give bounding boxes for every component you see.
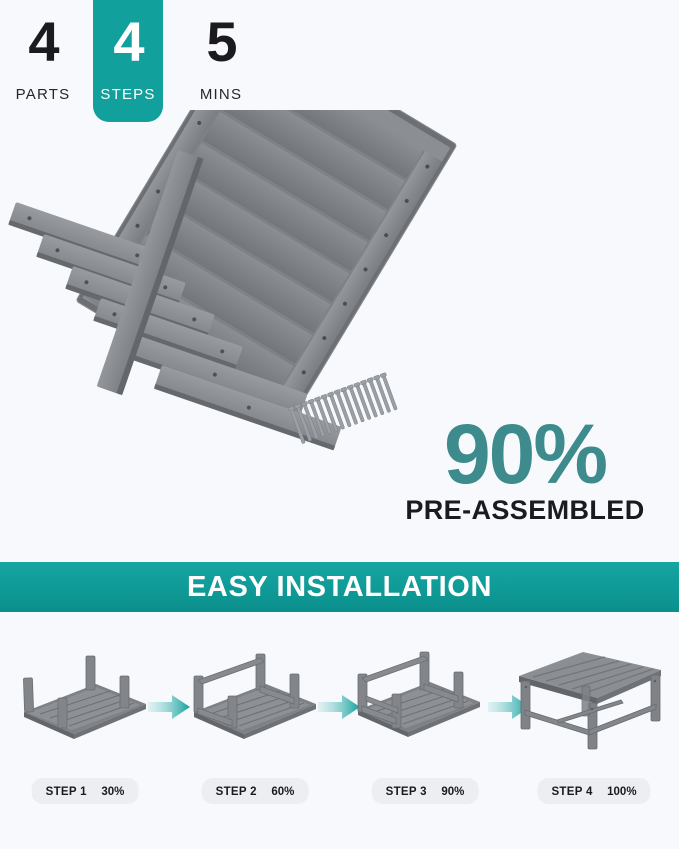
stat-steps: 4 STEPS [93, 0, 163, 122]
pre-assembled-percent: 90% [391, 416, 659, 493]
step-4-percent: 100% [607, 786, 636, 798]
step-1-percent: 30% [101, 786, 124, 798]
stat-steps-label: STEPS [100, 86, 155, 103]
step-4: STEP 4 100% [509, 640, 679, 815]
stat-mins-label: MINS [200, 86, 242, 103]
stat-steps-value: 4 [113, 14, 142, 70]
pre-assembled-caption: PRE-ASSEMBLED [391, 495, 659, 526]
step-3: STEP 3 90% [340, 640, 510, 815]
installation-steps: STEP 1 30% [0, 640, 679, 815]
step-3-pill: STEP 3 90% [372, 778, 479, 804]
step-1-illustration [0, 640, 170, 758]
stat-parts-label: PARTS [16, 86, 71, 103]
frame-with-stretchers [358, 652, 480, 737]
stat-mins-value: 5 [206, 14, 235, 70]
step-2-label: STEP 2 [216, 786, 257, 798]
step-1-label: STEP 1 [46, 786, 87, 798]
stat-parts: 4 PARTS [8, 0, 78, 122]
step-3-illustration [340, 640, 510, 758]
finished-table [519, 652, 661, 749]
step-2-pill: STEP 2 60% [202, 778, 309, 804]
banner-title: EASY INSTALLATION [187, 571, 492, 604]
step-4-illustration [509, 640, 679, 758]
step-1-pill: STEP 1 30% [32, 778, 139, 804]
step-2-percent: 60% [271, 786, 294, 798]
easy-installation-banner: EASY INSTALLATION [0, 562, 679, 612]
step-4-label: STEP 4 [551, 786, 592, 798]
stat-parts-value: 4 [28, 14, 57, 70]
pre-assembled-block: 90% PRE-ASSEMBLED [391, 416, 659, 526]
step-2-illustration [170, 640, 340, 758]
step-3-percent: 90% [441, 786, 464, 798]
step-2: STEP 2 60% [170, 640, 340, 815]
stats-strip: 4 PARTS 4 STEPS 5 MINS [0, 0, 270, 122]
step-1: STEP 1 30% [0, 640, 170, 815]
stat-mins: 5 MINS [186, 0, 256, 122]
frame-with-two-legs [23, 656, 146, 739]
frame-with-four-legs [194, 654, 316, 739]
step-4-pill: STEP 4 100% [537, 778, 650, 804]
step-3-label: STEP 3 [386, 786, 427, 798]
